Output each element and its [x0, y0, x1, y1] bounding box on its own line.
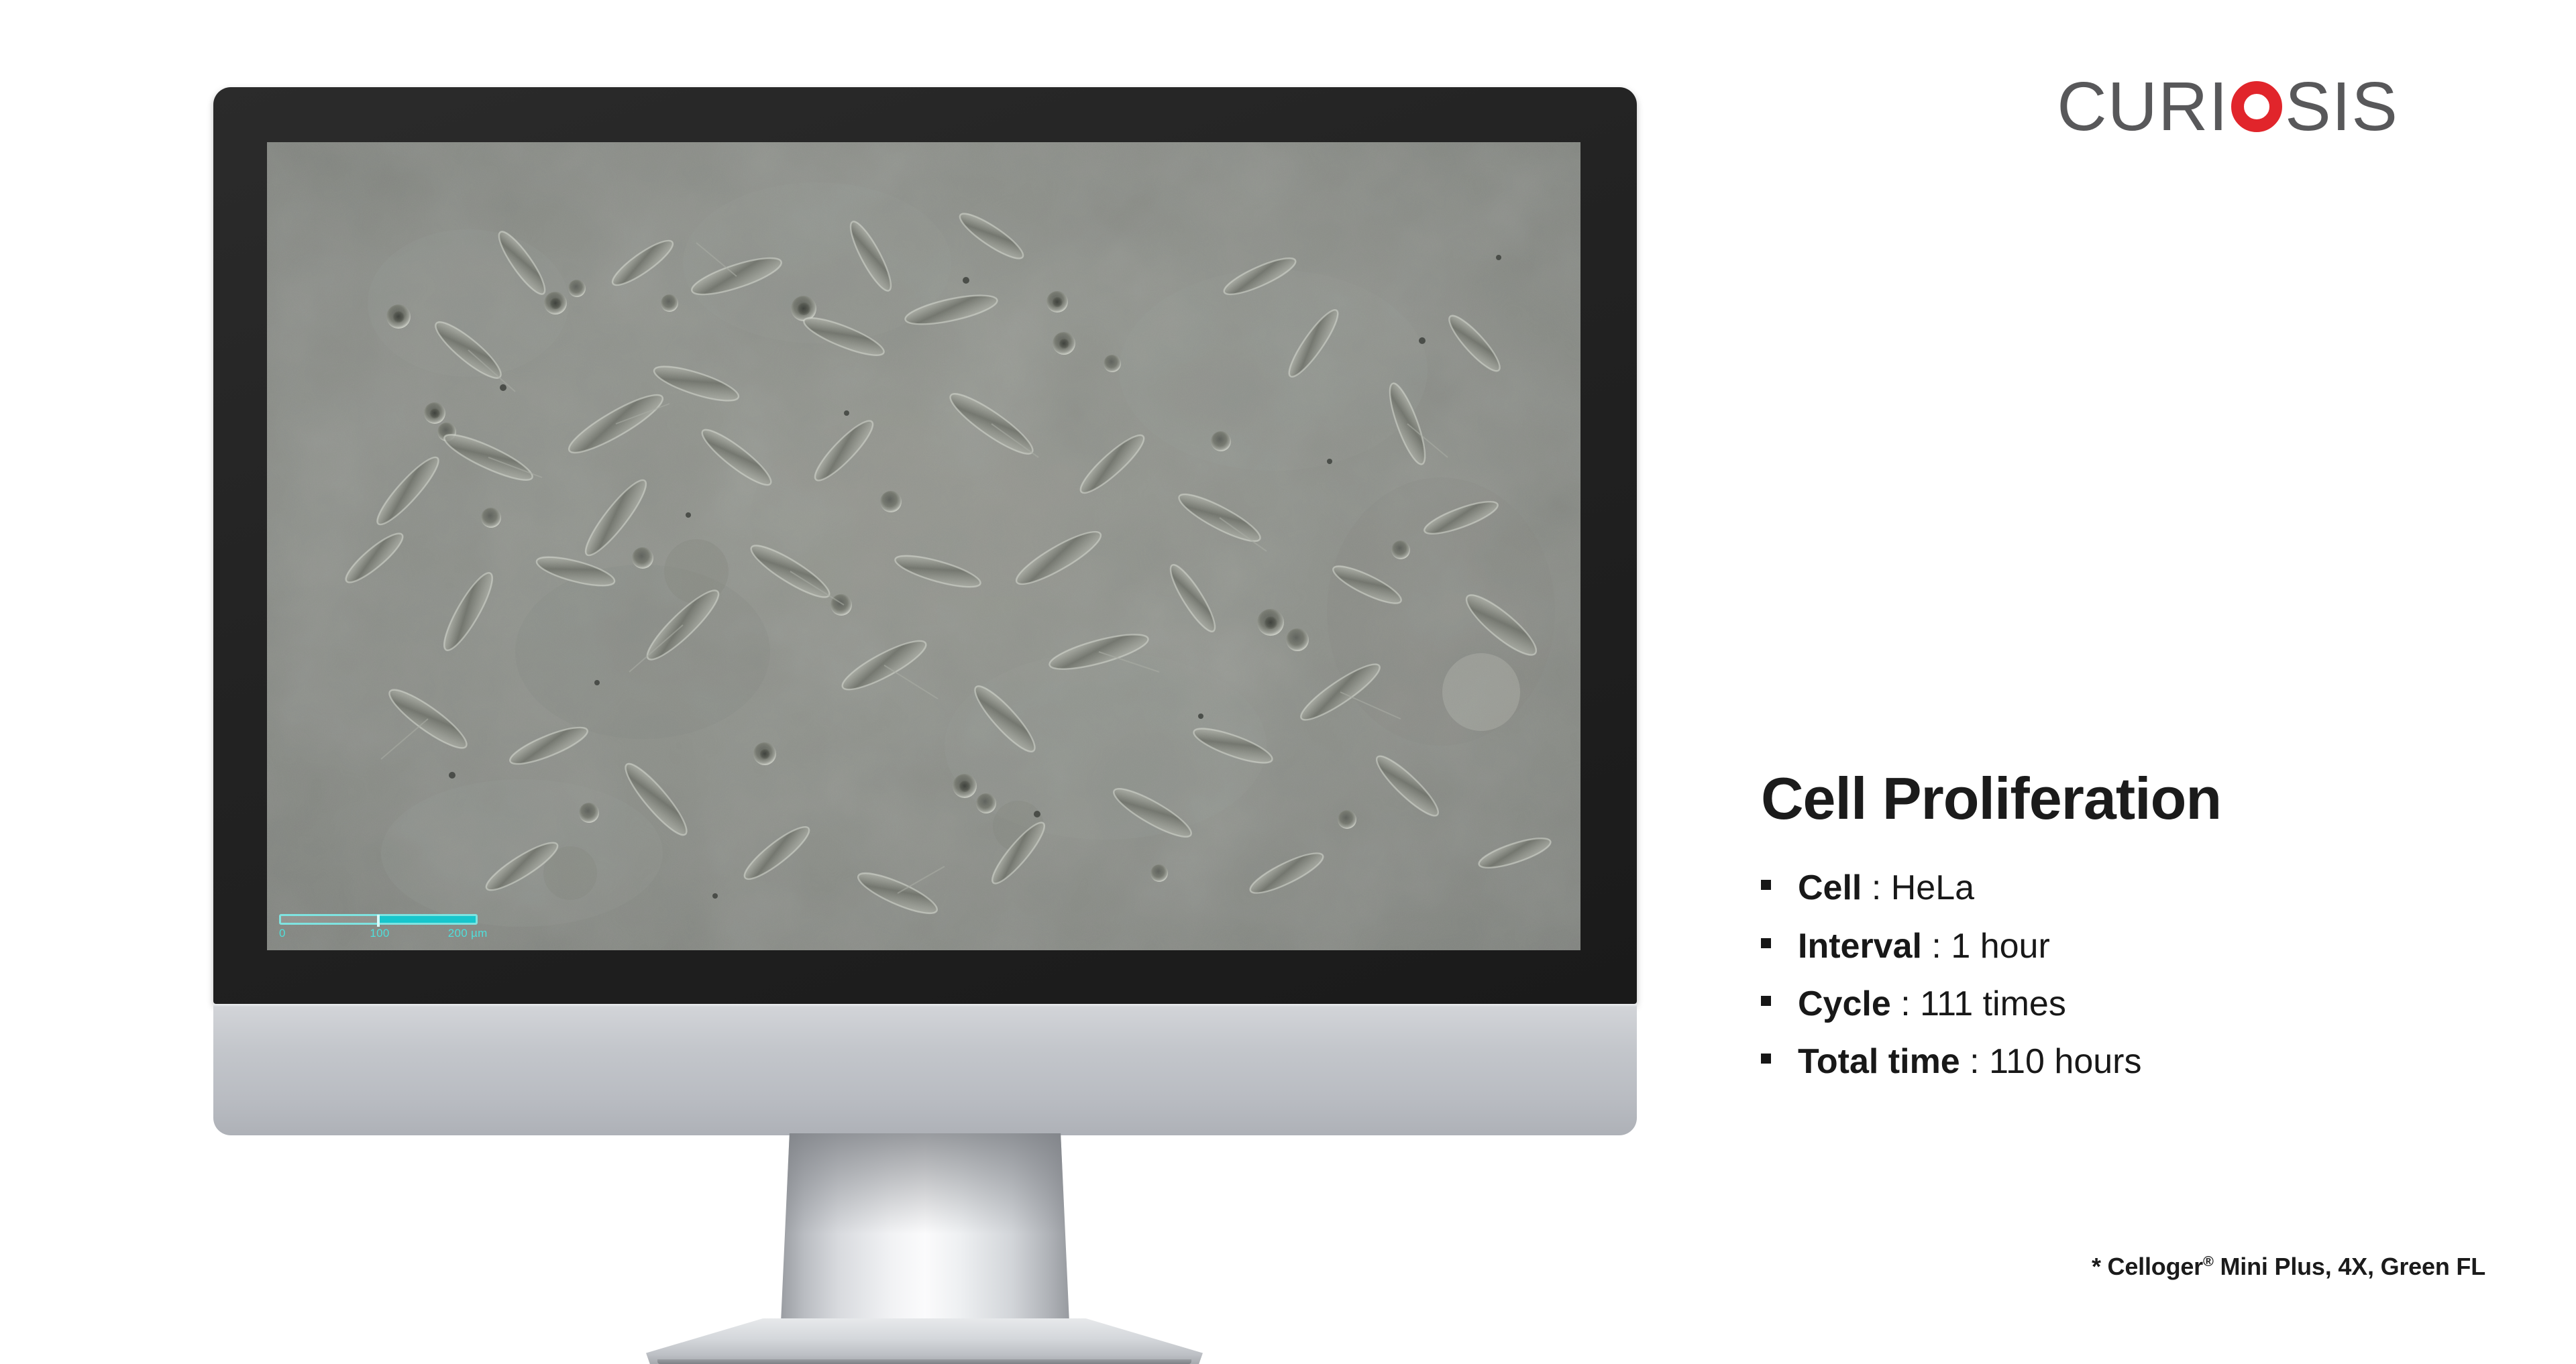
- monitor-bezel: 0 100 200 µm: [213, 87, 1637, 1004]
- footnote-prefix: * Celloger: [2092, 1253, 2203, 1280]
- curiosis-logo: CURI SIS: [2009, 66, 2398, 146]
- logo-text-part1: CURI: [2057, 72, 2229, 141]
- scale-bar: 0 100 200 µm: [279, 914, 480, 925]
- logo-o-mark: [2231, 81, 2282, 132]
- scale-label-mid: 100: [370, 927, 389, 940]
- spec-separator: :: [1922, 923, 1951, 970]
- spec-separator: :: [1960, 1038, 1989, 1085]
- spec-label: Interval: [1798, 923, 1922, 970]
- spec-label: Total time: [1798, 1038, 1960, 1085]
- spec-list: Cell : HeLa Interval : 1 hour Cycle : 11…: [1761, 864, 2485, 1085]
- spec-value: 1 hour: [1951, 923, 2049, 970]
- bullet-icon: [1761, 880, 1771, 890]
- spec-value: HeLa: [1891, 864, 1974, 911]
- spec-value: 111 times: [1920, 980, 2066, 1027]
- monitor: 0 100 200 µm: [213, 87, 1637, 1133]
- registered-trademark-icon: ®: [2203, 1253, 2214, 1269]
- spec-label: Cell: [1798, 864, 1862, 911]
- list-item: Cell : HeLa: [1761, 864, 2485, 911]
- scale-label-min: 0: [279, 927, 286, 940]
- info-panel: Cell Proliferation Cell : HeLa Interval …: [1761, 768, 2485, 1096]
- spec-value: 110 hours: [1989, 1038, 2141, 1085]
- scale-label-max: 200 µm: [448, 927, 488, 940]
- list-item: Interval : 1 hour: [1761, 923, 2485, 970]
- footnote-suffix: Mini Plus, 4X, Green FL: [2214, 1253, 2485, 1280]
- scale-bar-midpoint-tick: [377, 915, 380, 927]
- footnote: * Celloger® Mini Plus, 4X, Green FL: [1761, 1253, 2485, 1281]
- monitor-stand-base: [646, 1318, 1203, 1364]
- monitor-stand-neck: [781, 1133, 1069, 1322]
- monitor-chin: [213, 1004, 1637, 1135]
- bullet-icon: [1761, 938, 1771, 948]
- bullet-icon: [1761, 996, 1771, 1006]
- logo-text-part2: SIS: [2285, 72, 2398, 141]
- spec-separator: :: [1862, 864, 1890, 911]
- micrograph-image: [267, 142, 1580, 950]
- page-title: Cell Proliferation: [1761, 768, 2485, 830]
- logo-wordmark: CURI SIS: [2057, 72, 2398, 141]
- spec-separator: :: [1891, 980, 1920, 1027]
- scale-bar-fill: [378, 916, 476, 923]
- bullet-icon: [1761, 1054, 1771, 1064]
- scale-bar-track: [279, 914, 478, 925]
- monitor-screen: 0 100 200 µm: [267, 142, 1580, 950]
- list-item: Cycle : 111 times: [1761, 980, 2485, 1027]
- spec-label: Cycle: [1798, 980, 1891, 1027]
- list-item: Total time : 110 hours: [1761, 1038, 2485, 1085]
